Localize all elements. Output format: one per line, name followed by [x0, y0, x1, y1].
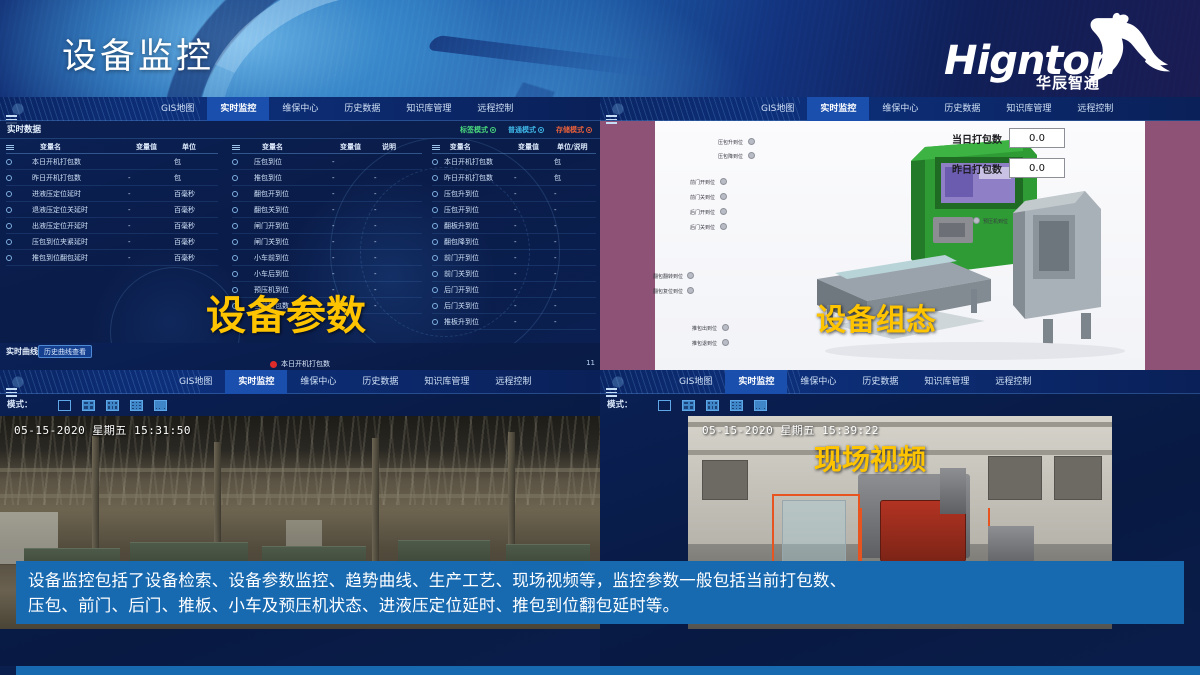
nav-item-history[interactable]: 历史数据	[331, 97, 393, 121]
col-header-value: 变量值	[340, 142, 382, 152]
cell-value: -	[514, 302, 554, 310]
cell-name: 推包到位翻包延时	[32, 253, 128, 263]
scada-dot-10	[973, 217, 980, 224]
nav-bar-tr: GIS地图 实时监控 维保中心 历史数据 知识库管理 远程控制	[600, 97, 1200, 121]
cell-unit: -	[554, 206, 594, 214]
layout-6-icon[interactable]	[706, 400, 719, 411]
nav-bar-br: GIS地图 实时监控 维保中心 历史数据 知识库管理 远程控制	[600, 370, 1200, 394]
table-row[interactable]: 前门关到位--	[432, 266, 596, 282]
header-banner: 设备监控 Hignton 华辰智通	[0, 0, 1200, 97]
mode-link-tag-label: 标签模式	[460, 125, 488, 135]
row-select-radio[interactable]	[6, 191, 12, 197]
cell-note: -	[374, 238, 404, 246]
cell-name: 退液压定位关延时	[32, 205, 128, 215]
layout-9-icon[interactable]	[130, 400, 143, 411]
table-row[interactable]: 翻包降到位--	[432, 234, 596, 250]
table-row[interactable]: 翻板升到位--	[432, 218, 596, 234]
row-select-radio[interactable]	[232, 223, 238, 229]
cell-unit: -	[554, 190, 594, 198]
table-header-row: 变量名 变量值 单位/说明	[432, 141, 596, 154]
cell-value: -	[332, 222, 374, 230]
nav-item-knowledge[interactable]: 知识库管理	[993, 97, 1064, 121]
nav-items-bl: GIS地图 实时监控 维保中心 历史数据 知识库管理 远程控制	[166, 370, 544, 394]
table-row[interactable]: 昨日开机打包数-包	[432, 170, 596, 186]
panel-video-left: GIS地图 实时监控 维保中心 历史数据 知识库管理 远程控制 模式：	[0, 370, 600, 675]
table-row[interactable]: 出液压定位开延时-百毫秒	[6, 218, 218, 234]
nav-item-gis[interactable]: GIS地图	[666, 370, 725, 394]
scada-dot-1	[748, 152, 755, 159]
nav-item-gis[interactable]: GIS地图	[166, 370, 225, 394]
layout-1-icon[interactable]	[58, 400, 71, 411]
mode-link-store[interactable]: 存储模式	[556, 125, 592, 135]
col-header-name: 变量名	[262, 142, 340, 152]
table-row[interactable]: 后门开到位--	[432, 282, 596, 298]
row-select-radio[interactable]	[6, 159, 12, 165]
mode-link-normal-label: 普通模式	[508, 125, 536, 135]
cell-unit: 包	[554, 157, 594, 167]
table-row[interactable]: 小车后到位--	[232, 266, 422, 282]
cell-name: 前门开到位	[444, 253, 514, 263]
nav-items-tr: GIS地图 实时监控 维保中心 历史数据 知识库管理 远程控制	[748, 97, 1126, 121]
nav-item-knowledge[interactable]: 知识库管理	[911, 370, 982, 394]
col-header-value: 变量值	[518, 142, 557, 152]
cell-unit: 百毫秒	[174, 221, 202, 231]
row-select-radio[interactable]	[6, 175, 12, 181]
nav-item-history[interactable]: 历史数据	[849, 370, 911, 394]
cell-value: -	[514, 270, 554, 278]
footer-bar	[0, 666, 1200, 675]
scada-dot-3	[720, 193, 727, 200]
cell-unit: -	[554, 286, 594, 294]
scada-dot-8	[722, 324, 729, 331]
cell-unit: -	[554, 270, 594, 278]
history-curve-button[interactable]: 历史曲线查看	[38, 345, 92, 358]
row-select-radio[interactable]	[232, 255, 238, 261]
col-header-name: 变量名	[40, 142, 136, 152]
cell-note: -	[374, 190, 404, 198]
table-row[interactable]: 进液压定位延时-百毫秒	[6, 186, 218, 202]
video-timestamp-left: 05-15-2020 星期五 15:31:50	[14, 422, 191, 438]
table-row[interactable]: 前门开到位--	[432, 250, 596, 266]
layout-1-icon[interactable]	[658, 400, 671, 411]
layout-4-icon[interactable]	[682, 400, 695, 411]
trend-title: 实时曲线	[6, 343, 38, 360]
nav-item-knowledge[interactable]: 知识库管理	[411, 370, 482, 394]
col-header-unit: 单位	[182, 142, 210, 152]
cell-note: -	[374, 222, 404, 230]
cell-name: 昨日开机打包数	[444, 173, 514, 183]
cell-value: -	[128, 254, 174, 262]
table-header-row: 变量名 变量值 单位	[6, 141, 218, 154]
nav-item-realtime[interactable]: 实时监控	[225, 370, 287, 394]
table-row[interactable]: 翻包关到位--	[232, 202, 422, 218]
logo-chinese-name: 华辰智通	[1036, 72, 1100, 93]
scada-dot-7	[687, 287, 694, 294]
cell-name: 推包到位	[254, 173, 332, 183]
row-select-radio[interactable]	[432, 319, 438, 325]
cell-name: 进液压定位延时	[32, 189, 128, 199]
mode-links: 标签模式 普通模式 存储模式	[460, 121, 592, 139]
footer-left-cap	[0, 666, 16, 675]
col-header-value: 变量值	[136, 142, 182, 152]
field-today-bales-value[interactable]: 0.0	[1009, 128, 1065, 148]
mode-label-left: 模式：	[7, 394, 33, 416]
table-row[interactable]: 推包到位翻包延时-百毫秒	[6, 250, 218, 266]
cell-value: -	[514, 318, 554, 326]
nav-item-realtime[interactable]: 实时监控	[807, 97, 869, 121]
cell-name: 翻包降到位	[444, 237, 514, 247]
cell-note: -	[374, 286, 404, 294]
table-body-1: 本日开机打包数包昨日开机打包数-包进液压定位延时-百毫秒退液压定位关延时-百毫秒…	[6, 154, 218, 266]
cell-name: 昨日开机打包数	[32, 173, 128, 183]
panel-device-scada: GIS地图 实时监控 维保中心 历史数据 知识库管理 远程控制	[600, 97, 1200, 370]
row-select-radio[interactable]	[432, 207, 438, 213]
nav-item-remote[interactable]: 远程控制	[482, 370, 544, 394]
cell-value: -	[514, 222, 554, 230]
table-row[interactable]: 推板升到位--	[432, 314, 596, 330]
scada-dot-9	[722, 339, 729, 346]
table-row[interactable]: 本日开机打包数包	[6, 154, 218, 170]
toggle-icon	[490, 127, 496, 133]
cell-name: 小车前到位	[254, 253, 332, 263]
nav-item-remote[interactable]: 远程控制	[982, 370, 1044, 394]
nav-bar-tl: GIS地图 实时监控 维保中心 历史数据 知识库管理 远程控制	[0, 97, 600, 121]
legend-color-dot	[270, 361, 277, 368]
row-select-radio[interactable]	[432, 287, 438, 293]
cell-name: 小车后到位	[254, 269, 332, 279]
cell-name: 闸门开到位	[254, 221, 332, 231]
caption-line-1: 设备监控包括了设备检索、设备参数监控、趋势曲线、生产工艺、现场视频等，监控参数一…	[28, 568, 1172, 593]
cell-name: 翻包开到位	[254, 189, 332, 199]
row-select-radio[interactable]	[432, 255, 438, 261]
legend-label: 本日开机打包数	[281, 359, 330, 369]
nav-item-realtime[interactable]: 实时监控	[725, 370, 787, 394]
scada-label-0: 压包升到位	[693, 139, 743, 146]
cell-note: -	[374, 254, 404, 262]
nav-bar-bl: GIS地图 实时监控 维保中心 历史数据 知识库管理 远程控制	[0, 370, 600, 394]
cell-value: -	[128, 238, 174, 246]
cell-value: -	[514, 254, 554, 262]
page-title: 设备监控	[62, 28, 214, 79]
scada-label-5: 后门关到位	[663, 224, 715, 231]
row-select-radio[interactable]	[432, 191, 438, 197]
cell-name: 压包到位夹紧延时	[32, 237, 128, 247]
cell-value: -	[514, 286, 554, 294]
row-select-radio[interactable]	[232, 207, 238, 213]
toggle-icon	[538, 127, 544, 133]
cell-value: -	[332, 190, 374, 198]
cell-value: -	[514, 190, 554, 198]
drag-handle-icon[interactable]	[432, 144, 440, 151]
scada-label-3: 前门关到位	[663, 194, 715, 201]
cell-name: 后门开到位	[444, 285, 514, 295]
nav-item-remote[interactable]: 远程控制	[1064, 97, 1126, 121]
cell-unit: 包	[554, 173, 594, 183]
row-select-radio[interactable]	[6, 255, 12, 261]
cell-name: 后门关到位	[444, 301, 514, 311]
cell-value: -	[128, 222, 174, 230]
toggle-icon	[586, 127, 592, 133]
annotation-live-video: 现场视频	[814, 438, 926, 478]
trend-chart-section: 实时曲线 历史曲线查看 本日开机打包数 11 趋势曲线	[0, 343, 600, 370]
row-select-radio[interactable]	[232, 191, 238, 197]
layout-9-icon[interactable]	[730, 400, 743, 411]
cell-name: 前门关到位	[444, 269, 514, 279]
row-select-radio[interactable]	[432, 239, 438, 245]
cell-unit: 百毫秒	[174, 237, 202, 247]
cell-unit: -	[554, 302, 594, 310]
scada-label-4: 后门开到位	[663, 209, 715, 216]
panel-realtime-data: GIS地图 实时监控 维保中心 历史数据 知识库管理 远程控制 实时数据 标签模…	[0, 97, 600, 370]
cell-value: -	[514, 238, 554, 246]
video-timestamp-right: 05-15-2020 星期五 15:39:22	[702, 422, 879, 438]
panel-video-right: GIS地图 实时监控 维保中心 历史数据 知识库管理 远程控制 模式：	[600, 370, 1200, 675]
chart-legend: 本日开机打包数	[270, 359, 330, 369]
field-today-bales: 当日打包数 0.0	[952, 128, 1065, 148]
cell-note: -	[374, 174, 404, 182]
cell-name: 本日开机打包数	[32, 157, 128, 167]
col-header-name: 变量名	[450, 142, 518, 152]
row-select-radio[interactable]	[232, 239, 238, 245]
cell-name: 压包升到位	[444, 189, 514, 199]
annotation-device-params: 设备参数	[206, 283, 366, 341]
cell-unit: 百毫秒	[174, 189, 202, 199]
cell-unit: 百毫秒	[174, 253, 202, 263]
mode-label-right: 模式：	[607, 394, 633, 416]
table-row[interactable]: 压包开到位--	[432, 202, 596, 218]
scada-dot-4	[720, 208, 727, 215]
table-row[interactable]: 压包到位夹紧延时-百毫秒	[6, 234, 218, 250]
row-select-radio[interactable]	[432, 223, 438, 229]
mode-link-normal[interactable]: 普通模式	[508, 125, 544, 135]
slide-root: 设备监控 Hignton 华辰智通 GIS地图 实时监控 维保中心 历史数据 知…	[0, 0, 1200, 675]
row-select-radio[interactable]	[232, 271, 238, 277]
table-header-row: 变量名 变量值 说明	[232, 141, 422, 154]
nav-item-history[interactable]: 历史数据	[931, 97, 993, 121]
safety-rail	[772, 494, 860, 570]
nav-item-remote[interactable]: 远程控制	[464, 97, 526, 121]
cell-unit: -	[554, 254, 594, 262]
layout-16-icon[interactable]	[754, 400, 767, 411]
cell-note: -	[374, 206, 404, 214]
layout-4-icon[interactable]	[82, 400, 95, 411]
scada-dot-5	[720, 223, 727, 230]
cell-note: -	[374, 302, 404, 310]
cell-unit: -	[554, 318, 594, 326]
cell-value: -	[332, 238, 374, 246]
nav-item-maintenance[interactable]: 维保中心	[287, 370, 349, 394]
table-row[interactable]: 本日开机打包数包	[432, 154, 596, 170]
table-row[interactable]: 翻包开到位--	[232, 186, 422, 202]
scada-dot-0	[748, 138, 755, 145]
row-select-radio[interactable]	[6, 207, 12, 213]
scada-label-6: 翻包翻转到位	[625, 273, 683, 280]
nav-item-maintenance[interactable]: 维保中心	[787, 370, 849, 394]
row-select-radio[interactable]	[6, 223, 12, 229]
cell-unit: 百毫秒	[174, 205, 202, 215]
col-header-note: 说明	[382, 142, 412, 152]
row-select-radio[interactable]	[432, 159, 438, 165]
table-row[interactable]: 推包到位--	[232, 170, 422, 186]
trend-count: 11	[586, 359, 595, 367]
row-select-radio[interactable]	[432, 303, 438, 309]
cell-value: -	[128, 206, 174, 214]
cell-name: 推板升到位	[444, 317, 514, 327]
scada-label-10: 预压机到位	[983, 218, 1039, 225]
nav-item-realtime[interactable]: 实时监控	[207, 97, 269, 121]
nav-item-maintenance[interactable]: 维保中心	[269, 97, 331, 121]
field-today-bales-label: 当日打包数	[952, 131, 1002, 146]
cell-value: -	[332, 174, 374, 182]
layout-6-icon[interactable]	[106, 400, 119, 411]
drag-handle-icon[interactable]	[232, 144, 240, 151]
mode-link-store-label: 存储模式	[556, 125, 584, 135]
cell-value: -	[128, 190, 174, 198]
cell-name: 压包到位	[254, 157, 332, 167]
scada-dot-2	[720, 178, 727, 185]
nav-items-br: GIS地图 实时监控 维保中心 历史数据 知识库管理 远程控制	[666, 370, 1044, 394]
nav-item-gis[interactable]: GIS地图	[748, 97, 807, 121]
caption-box: 设备监控包括了设备检索、设备参数监控、趋势曲线、生产工艺、现场视频等，监控参数一…	[16, 561, 1184, 624]
col-header-unit: 单位/说明	[557, 142, 596, 152]
cell-value: -	[332, 254, 374, 262]
cell-value: -	[332, 206, 374, 214]
row-select-radio[interactable]	[232, 175, 238, 181]
table-row[interactable]: 退液压定位关延时-百毫秒	[6, 202, 218, 218]
nav-item-gis[interactable]: GIS地图	[148, 97, 207, 121]
cell-note: -	[374, 270, 404, 278]
field-yesterday-bales-value[interactable]: 0.0	[1009, 158, 1065, 178]
cell-value: -	[514, 206, 554, 214]
table-row[interactable]: 压包升到位--	[432, 186, 596, 202]
table-body-3: 本日开机打包数包昨日开机打包数-包压包升到位--压包开到位--翻板升到位--翻包…	[432, 154, 596, 330]
caption-line-2: 压包、前门、后门、推板、小车及预压机状态、进液压定位延时、推包到位翻包延时等。	[28, 593, 1172, 618]
layout-16-icon[interactable]	[154, 400, 167, 411]
scada-label-7: 翻包复位到位	[625, 288, 683, 295]
cell-unit: -	[554, 238, 594, 246]
nav-items-tl: GIS地图 实时监控 维保中心 历史数据 知识库管理 远程控制	[148, 97, 526, 121]
row-select-radio[interactable]	[232, 159, 238, 165]
subheader-title: 实时数据	[7, 121, 41, 139]
nav-item-history[interactable]: 历史数据	[349, 370, 411, 394]
nav-item-maintenance[interactable]: 维保中心	[869, 97, 931, 121]
scada-dot-6	[687, 272, 694, 279]
field-yesterday-bales-label: 昨日打包数	[952, 161, 1002, 176]
cell-value: -	[332, 158, 374, 166]
cell-name: 压包开到位	[444, 205, 514, 215]
nav-item-knowledge[interactable]: 知识库管理	[393, 97, 464, 121]
cell-name: 翻包关到位	[254, 205, 332, 215]
mode-icons-left	[58, 394, 167, 416]
table-row[interactable]: 后门关到位--	[432, 298, 596, 314]
table-row[interactable]: 小车前到位--	[232, 250, 422, 266]
row-select-radio[interactable]	[432, 271, 438, 277]
table-row[interactable]: 昨日开机打包数-包	[6, 170, 218, 186]
row-select-radio[interactable]	[6, 239, 12, 245]
scada-label-9: 推包退到位	[665, 340, 717, 347]
cell-value: -	[128, 174, 174, 182]
cell-name: 本日开机打包数	[444, 157, 514, 167]
table-row[interactable]: 闸门开到位--	[232, 218, 422, 234]
scada-label-8: 推包出到位	[665, 325, 717, 332]
cell-name: 翻板升到位	[444, 221, 514, 231]
scada-label-1: 压包降到位	[693, 153, 743, 160]
table-row[interactable]: 压包到位-	[232, 154, 422, 170]
cell-unit: 包	[174, 157, 202, 167]
field-yesterday-bales: 昨日打包数 0.0	[952, 158, 1065, 178]
row-select-radio[interactable]	[432, 175, 438, 181]
cell-unit: -	[554, 222, 594, 230]
cell-unit: 包	[174, 173, 202, 183]
cell-value: -	[514, 174, 554, 182]
drag-handle-icon[interactable]	[6, 144, 14, 151]
cell-name: 闸门关到位	[254, 237, 332, 247]
cell-value: -	[332, 270, 374, 278]
mode-icons-right	[658, 394, 767, 416]
cell-name: 出液压定位开延时	[32, 221, 128, 231]
data-table-1: 变量名 变量值 单位 本日开机打包数包昨日开机打包数-包进液压定位延时-百毫秒退…	[6, 141, 218, 266]
table-row[interactable]: 闸门关到位--	[232, 234, 422, 250]
mode-link-tag[interactable]: 标签模式	[460, 125, 496, 135]
data-table-3: 变量名 变量值 单位/说明 本日开机打包数包昨日开机打包数-包压包升到位--压包…	[432, 141, 596, 330]
brand-logo: Hignton 华辰智通	[938, 14, 1178, 92]
menu-icon[interactable]	[606, 115, 617, 124]
scada-label-2: 前门开到位	[663, 179, 715, 186]
annotation-device-config: 设备组态	[816, 295, 936, 339]
